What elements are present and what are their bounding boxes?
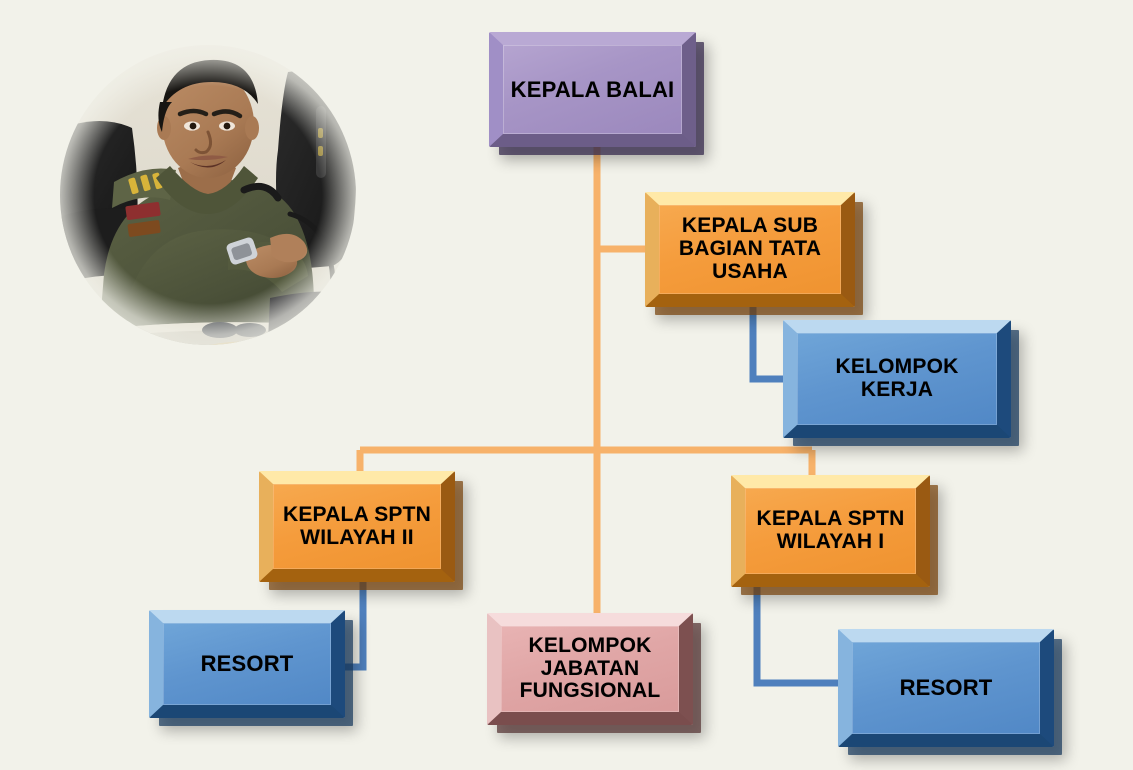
node-label: KEPALA BALAI (503, 78, 682, 102)
node-resort-kanan[interactable]: RESORT (838, 629, 1054, 747)
node-label: KELOMPOK KERJA (797, 356, 997, 401)
node-label: KEPALA SUB BAGIAN TATA USAHA (659, 215, 841, 283)
node-kepala-sptn-wilayah-2[interactable]: KEPALA SPTN WILAYAH II (259, 471, 455, 582)
org-chart-canvas: POLHUT (0, 0, 1133, 770)
node-resort-kiri[interactable]: RESORT (149, 610, 345, 718)
node-label: KEPALA SPTN WILAYAH II (273, 504, 441, 549)
node-label: RESORT (852, 676, 1040, 700)
node-kelompok-jabatan-fungsional[interactable]: KELOMPOK JABATAN FUNGSIONAL (487, 613, 693, 725)
node-kepala-sptn-wilayah-1[interactable]: KEPALA SPTN WILAYAH I (731, 475, 930, 587)
official-portrait-photo: POLHUT (38, 42, 378, 367)
connector-to-resort-kanan (757, 585, 845, 683)
node-kepala-sub-bagian-tata-usaha[interactable]: KEPALA SUB BAGIAN TATA USAHA (645, 192, 855, 307)
node-label: RESORT (163, 652, 331, 676)
node-kepala-balai[interactable]: KEPALA BALAI (489, 32, 696, 147)
node-label: KELOMPOK JABATAN FUNGSIONAL (501, 635, 679, 703)
node-label: KEPALA SPTN WILAYAH I (745, 508, 916, 553)
portrait-illustration: POLHUT (38, 42, 378, 367)
node-kelompok-kerja[interactable]: KELOMPOK KERJA (783, 320, 1011, 438)
